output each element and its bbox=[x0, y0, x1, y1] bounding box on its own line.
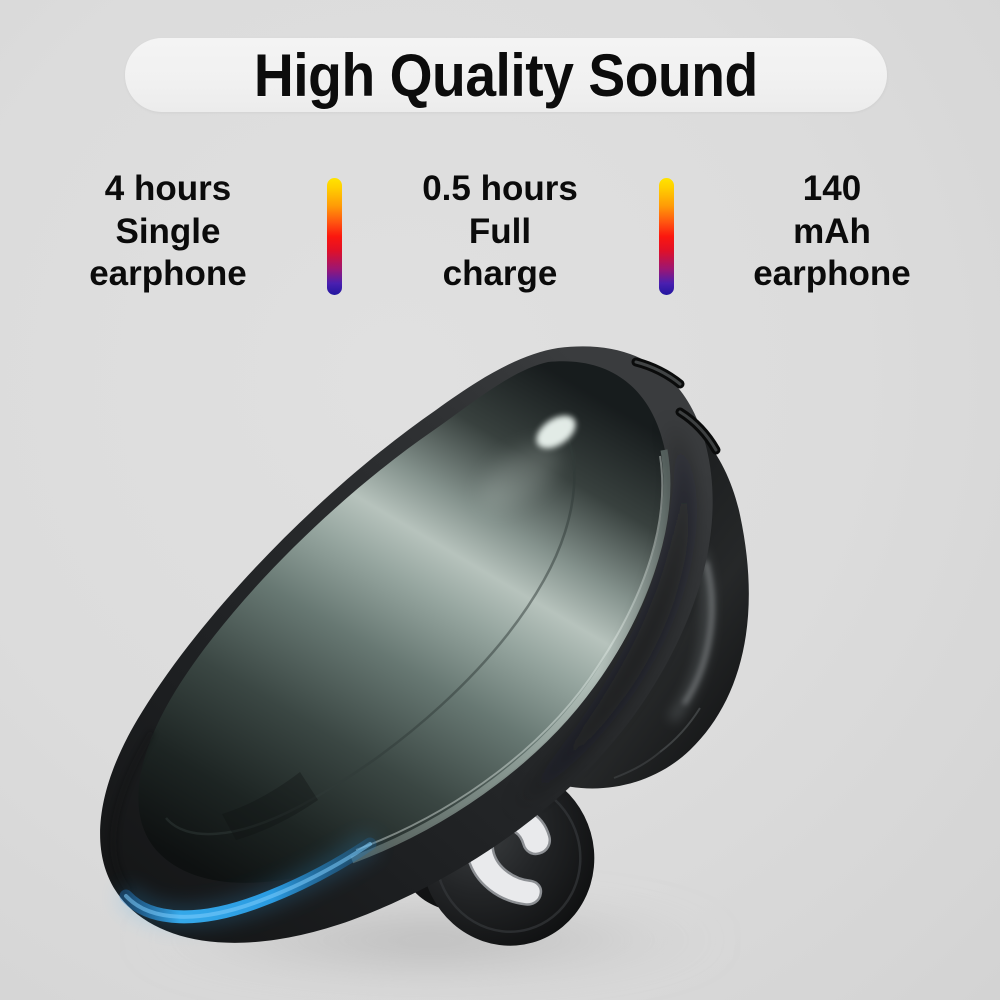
stat-label-line-1: Full bbox=[355, 211, 645, 254]
stat-label-line-1: mAh bbox=[687, 211, 977, 254]
product-image-bluetooth-earphone bbox=[0, 300, 1000, 1000]
divider-2 bbox=[645, 160, 687, 295]
stat-battery-capacity: 140 mAh earphone bbox=[687, 160, 977, 296]
stat-battery-life: 4 hours Single earphone bbox=[23, 160, 313, 296]
stat-label-line-2: earphone bbox=[23, 253, 313, 296]
gradient-divider-bar bbox=[327, 178, 342, 295]
stat-value: 140 bbox=[687, 168, 977, 211]
stat-charge-time: 0.5 hours Full charge bbox=[355, 160, 645, 296]
gradient-divider-bar bbox=[659, 178, 674, 295]
product-marketing-banner: High Quality Sound 4 hours Single earpho… bbox=[0, 0, 1000, 1000]
divider-1 bbox=[313, 160, 355, 295]
stat-label-line-2: charge bbox=[355, 253, 645, 296]
main-body bbox=[100, 346, 713, 942]
stat-label-line-2: earphone bbox=[687, 253, 977, 296]
title-pill: High Quality Sound bbox=[125, 38, 887, 112]
stat-value: 0.5 hours bbox=[355, 168, 645, 211]
stat-label-line-1: Single bbox=[23, 211, 313, 254]
stat-value: 4 hours bbox=[23, 168, 313, 211]
stats-row: 4 hours Single earphone 0.5 hours Full c… bbox=[0, 160, 1000, 310]
page-title: High Quality Sound bbox=[254, 41, 758, 110]
